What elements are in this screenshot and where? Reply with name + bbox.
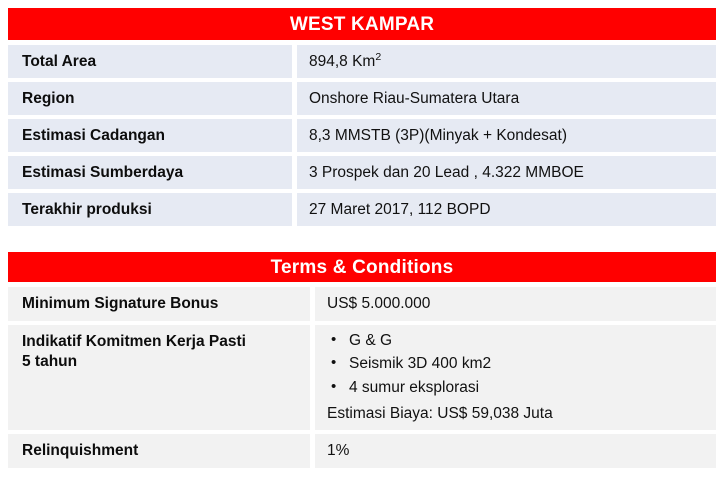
table-row: Terakhir produksi 27 Maret 2017, 112 BOP… [8, 193, 716, 226]
row-value-estimasi-sumberdaya: 3 Prospek dan 20 Lead , 4.322 MMBOE [297, 156, 716, 189]
west-kampar-table: WEST KAMPAR Total Area 894,8 Km2 Region … [8, 8, 716, 226]
list-item: 4 sumur eksplorasi [327, 379, 716, 398]
terms-conditions-rows: Minimum Signature Bonus US$ 5.000.000 In… [8, 287, 716, 468]
west-kampar-rows: Total Area 894,8 Km2 Region Onshore Riau… [8, 45, 716, 226]
terms-conditions-title-bar: Terms & Conditions [8, 252, 716, 282]
total-area-value: 894,8 Km [309, 53, 375, 70]
row-label-indikatif-komitmen: Indikatif Komitmen Kerja Pasti 5 tahun [8, 325, 310, 430]
row-label-indikatif-komitmen-line1: Indikatif Komitmen Kerja Pasti [22, 332, 246, 352]
row-label-estimasi-sumberdaya: Estimasi Sumberdaya [8, 156, 292, 189]
table-row: Estimasi Cadangan 8,3 MMSTB (3P)(Minyak … [8, 119, 716, 152]
row-label-region: Region [8, 82, 292, 115]
table-row: Total Area 894,8 Km2 [8, 45, 716, 78]
table-row: Region Onshore Riau-Sumatera Utara [8, 82, 716, 115]
row-label-indikatif-komitmen-line2: 5 tahun [22, 352, 246, 372]
row-label-terakhir-produksi: Terakhir produksi [8, 193, 292, 226]
row-value-terakhir-produksi: 27 Maret 2017, 112 BOPD [297, 193, 716, 226]
row-value-region: Onshore Riau-Sumatera Utara [297, 82, 716, 115]
table-row: Relinquishment 1% [8, 434, 716, 468]
row-label-total-area: Total Area [8, 45, 292, 78]
row-label-minimum-signature-bonus: Minimum Signature Bonus [8, 287, 310, 321]
table-row: Indikatif Komitmen Kerja Pasti 5 tahun G… [8, 325, 716, 430]
total-area-superscript: 2 [375, 50, 381, 62]
estimasi-biaya-note: Estimasi Biaya: US$ 59,038 Juta [327, 404, 716, 423]
row-value-indikatif-komitmen: G & G Seismik 3D 400 km2 4 sumur eksplor… [315, 325, 716, 430]
row-value-minimum-signature-bonus: US$ 5.000.000 [315, 287, 716, 321]
table-row: Minimum Signature Bonus US$ 5.000.000 [8, 287, 716, 321]
row-value-relinquishment: 1% [315, 434, 716, 468]
west-kampar-title-bar: WEST KAMPAR [8, 8, 716, 40]
table-row: Estimasi Sumberdaya 3 Prospek dan 20 Lea… [8, 156, 716, 189]
list-item: G & G [327, 332, 716, 351]
terms-conditions-table: Terms & Conditions Minimum Signature Bon… [8, 252, 716, 468]
row-label-relinquishment: Relinquishment [8, 434, 310, 468]
row-value-estimasi-cadangan: 8,3 MMSTB (3P)(Minyak + Kondesat) [297, 119, 716, 152]
row-value-total-area: 894,8 Km2 [297, 45, 716, 78]
komitmen-bullet-list: G & G Seismik 3D 400 km2 4 sumur eksplor… [327, 332, 716, 403]
row-label-estimasi-cadangan: Estimasi Cadangan [8, 119, 292, 152]
list-item: Seismik 3D 400 km2 [327, 355, 716, 374]
slide-page: WEST KAMPAR Total Area 894,8 Km2 Region … [0, 0, 723, 483]
